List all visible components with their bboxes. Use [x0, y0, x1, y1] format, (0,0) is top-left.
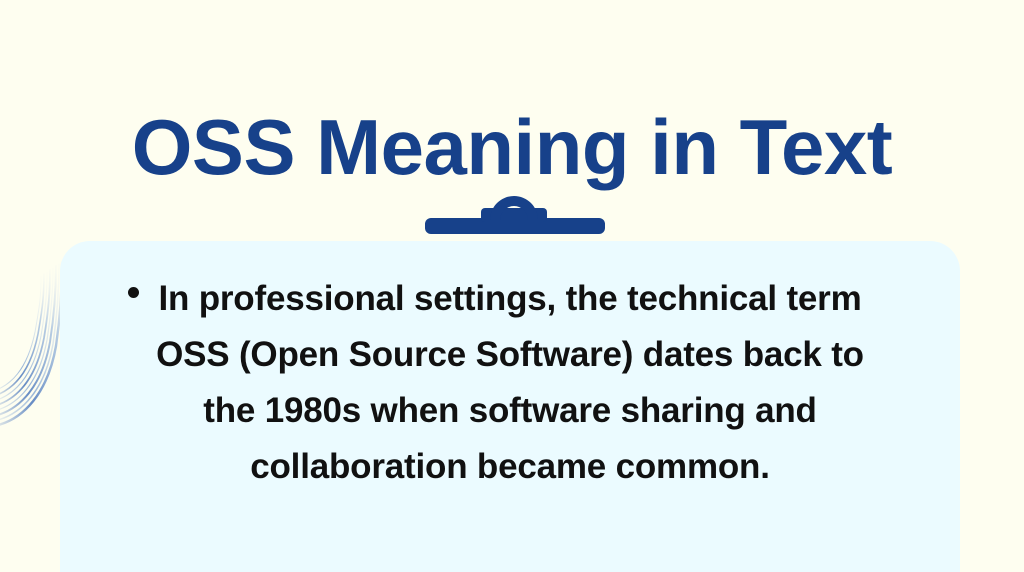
bullet-list: In professional settings, the technical …	[60, 241, 960, 495]
bullet-text: In professional settings, the technical …	[98, 271, 922, 495]
content-card: In professional settings, the technical …	[60, 241, 960, 572]
list-item: In professional settings, the technical …	[60, 241, 960, 495]
bullet-marker-icon	[128, 287, 139, 298]
slide-canvas: OSS Meaning in Text In professional sett…	[0, 0, 1024, 572]
bridge-ornament-icon	[425, 196, 605, 238]
page-title: OSS Meaning in Text	[0, 104, 1024, 190]
